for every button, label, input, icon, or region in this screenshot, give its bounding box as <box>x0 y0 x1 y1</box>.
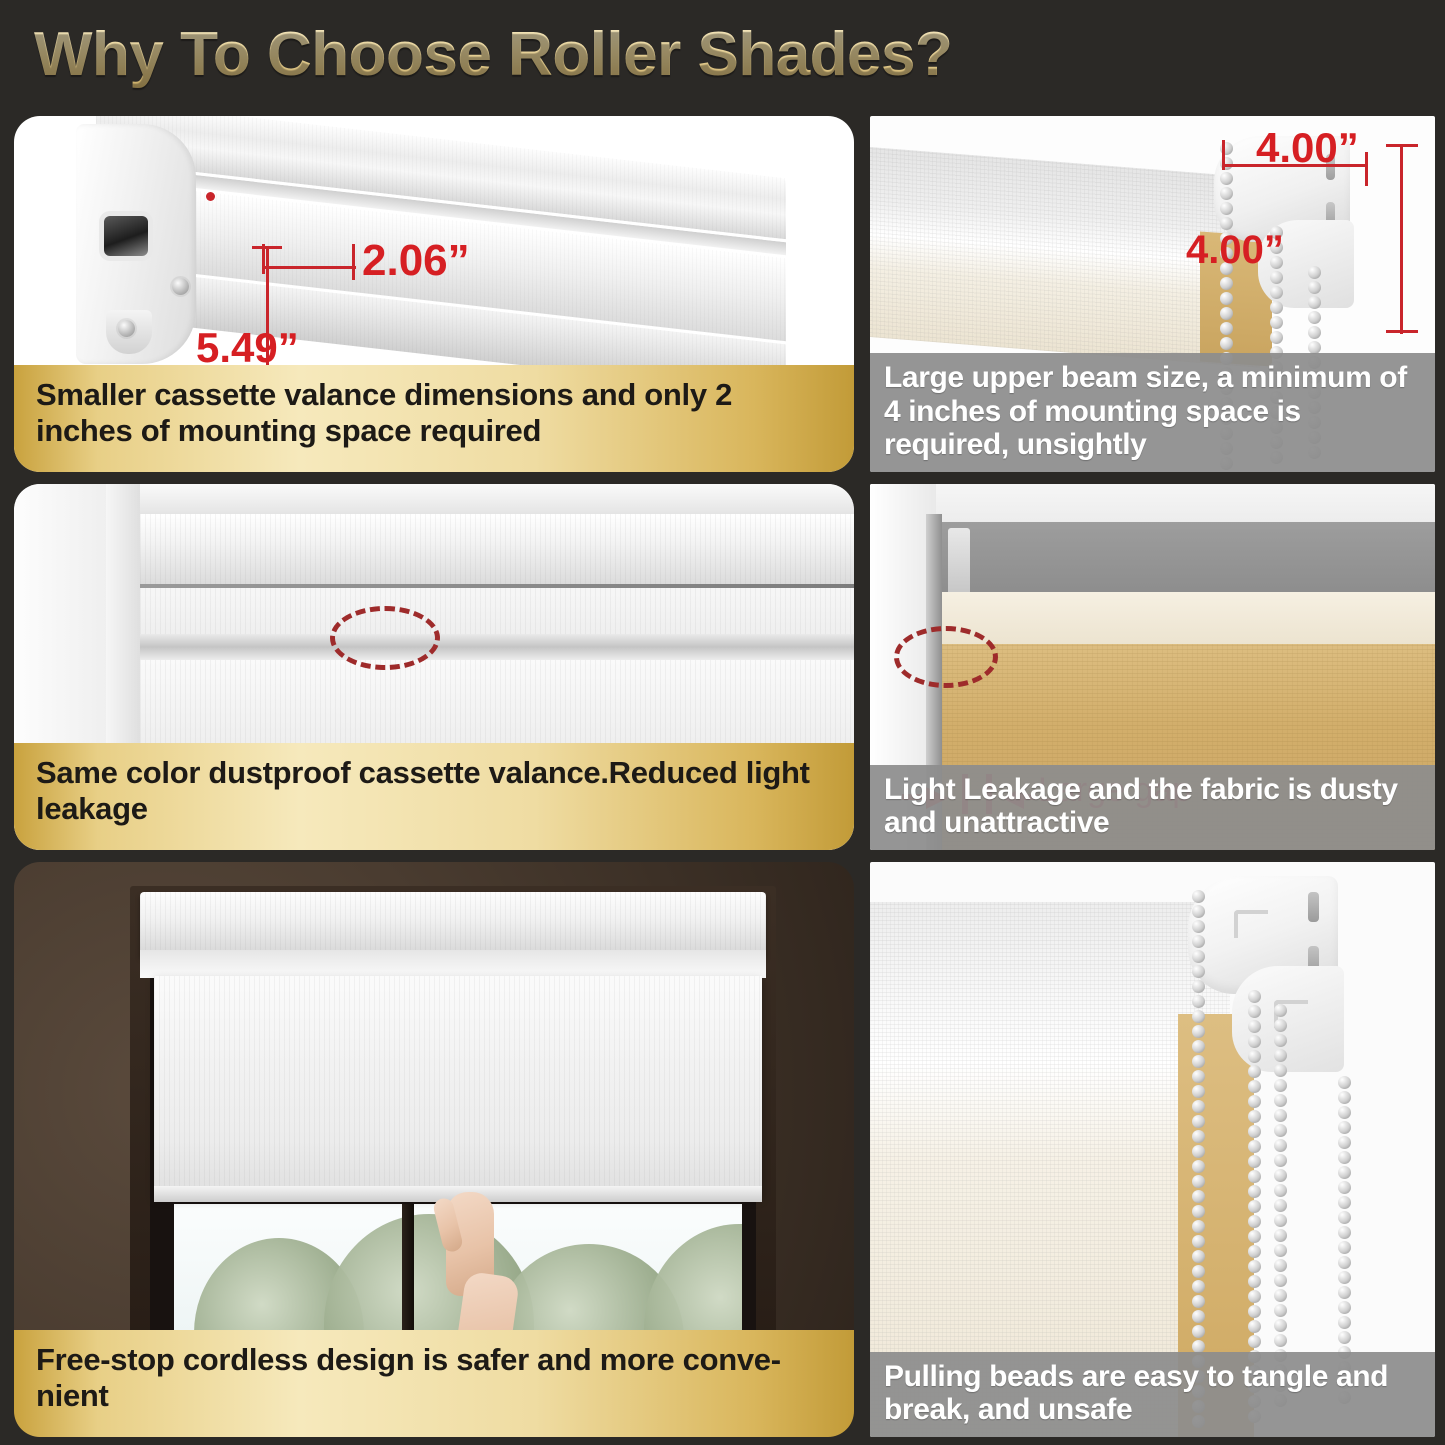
dim-tick-beam-top <box>1386 144 1418 147</box>
panel-pulling-beads[interactable]: Pulling beads are easy to tangle and bre… <box>870 862 1435 1437</box>
panel-4-caption-text: Light Leakage and the fabric is dusty an… <box>884 773 1421 840</box>
panel-large-gap[interactable]: Large gap Light Leakage and the fabric i… <box>870 484 1435 850</box>
panel-cordless-design[interactable]: Free-stop cordless design is safer and m… <box>14 862 854 1437</box>
page-title: Why To Choose Roller Shades? <box>34 19 952 90</box>
dim-tick-top <box>252 246 282 249</box>
gap-highlight-ellipse <box>894 626 998 688</box>
valance-end-cap <box>76 124 196 364</box>
shade-mid-rail <box>140 634 854 660</box>
gap-highlight-ellipse <box>330 606 440 670</box>
panel-5-caption: Free-stop cordless design is safer and m… <box>14 1330 854 1437</box>
measure-point-dot <box>206 192 215 201</box>
panel-1-caption-text: Smaller cassette valance dimensions and … <box>36 377 832 450</box>
panel-6-photo <box>870 862 1435 1437</box>
cassette-valance <box>140 514 854 584</box>
comparison-grid: 2.06” 5.49” Smaller cassette valance dim… <box>0 108 1445 1445</box>
mount-slot <box>1308 892 1319 922</box>
dim-tick-beam-right <box>1365 152 1368 186</box>
panel-2-caption: Large upper beam size, a minimum of 4 in… <box>870 353 1435 472</box>
dim-line-beam-height <box>1400 144 1403 334</box>
panel-3-caption: Same color dustproof cassette valance.Re… <box>14 743 854 850</box>
dim-label-beam-width: 4.00” <box>1256 124 1359 172</box>
panel-4-caption: Light Leakage and the fabric is dusty an… <box>870 765 1435 850</box>
screw <box>172 278 189 295</box>
panel-large-beam[interactable]: 4.00” 4.00” Large upper beam size, a min… <box>870 116 1435 472</box>
panel-2-caption-text: Large upper beam size, a minimum of 4 in… <box>884 361 1421 462</box>
dim-label-beam-height: 4.00” <box>1186 228 1284 273</box>
dim-line-width <box>262 266 356 269</box>
cassette-lower-lip <box>140 950 766 978</box>
panel-5-caption-text: Free-stop cordless design is safer and m… <box>36 1342 832 1415</box>
panel-small-gap[interactable]: smaller gap Same color dustproof cassett… <box>14 484 854 850</box>
dim-label-width: 2.06” <box>362 236 470 286</box>
dim-tick-top-right <box>352 244 355 280</box>
panel-1-caption: Smaller cassette valance dimensions and … <box>14 365 854 472</box>
roll-direction-icon <box>1234 910 1268 938</box>
panel-6-caption-text: Pulling beads are easy to tangle and bre… <box>884 1360 1421 1427</box>
screw <box>118 320 135 337</box>
dim-tick-beam-bottom <box>1386 330 1418 333</box>
roller-shade-fabric <box>154 976 762 1196</box>
cassette-head-rail <box>140 892 766 956</box>
bead-chain-1 <box>1192 890 1205 1430</box>
cord-slot <box>104 216 148 256</box>
panel-smaller-cassette[interactable]: 2.06” 5.49” Smaller cassette valance dim… <box>14 116 854 472</box>
page-header: Why To Choose Roller Shades? <box>0 0 1445 108</box>
panel-3-caption-text: Same color dustproof cassette valance.Re… <box>36 755 832 828</box>
panel-6-caption: Pulling beads are easy to tangle and bre… <box>870 1352 1435 1437</box>
